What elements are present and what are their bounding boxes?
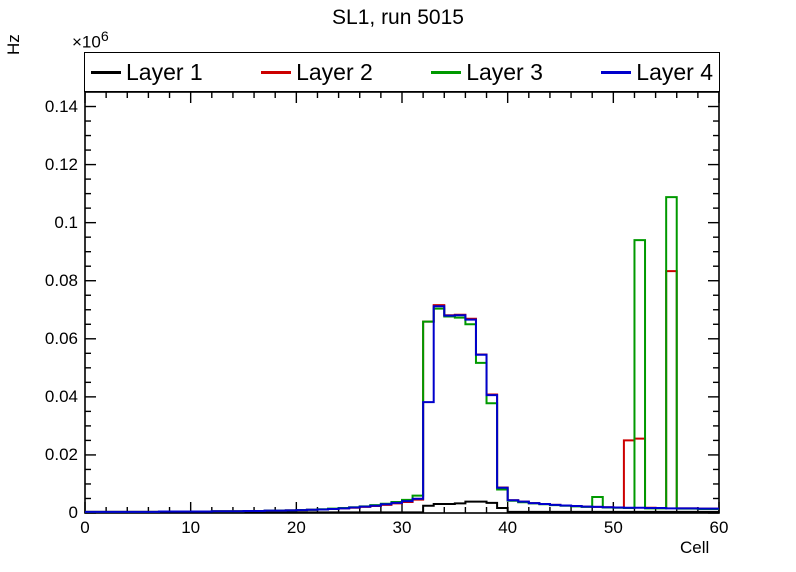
series-group — [85, 197, 719, 512]
legend-swatch-icon — [601, 71, 631, 74]
legend-label: Layer 2 — [296, 61, 373, 84]
legend-entry-layer-1[interactable]: Layer 1 — [91, 61, 203, 84]
legend: Layer 1Layer 2Layer 3Layer 4 — [84, 52, 720, 92]
legend-swatch-icon — [261, 71, 291, 74]
chart-canvas: SL1, run 5015 Hz ×106 Cell 00.020.040.06… — [0, 0, 796, 572]
legend-swatch-icon — [431, 71, 461, 74]
legend-entry-layer-2[interactable]: Layer 2 — [261, 61, 373, 84]
legend-label: Layer 3 — [466, 61, 543, 84]
legend-label: Layer 4 — [636, 61, 713, 84]
legend-label: Layer 1 — [126, 61, 203, 84]
legend-entry-layer-4[interactable]: Layer 4 — [601, 61, 713, 84]
legend-swatch-icon — [91, 71, 121, 74]
series-line-layer-2 — [85, 271, 719, 512]
legend-entry-layer-3[interactable]: Layer 3 — [431, 61, 543, 84]
